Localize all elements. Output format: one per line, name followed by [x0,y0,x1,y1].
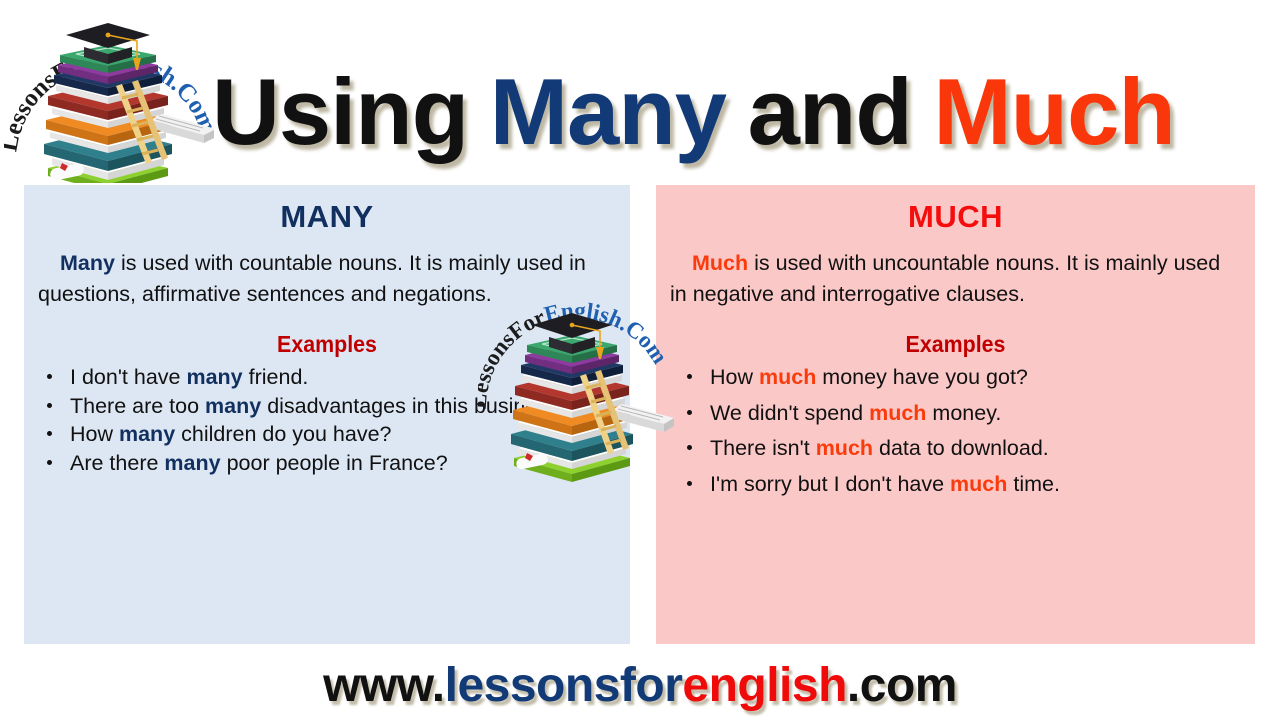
keyword-many: Many [60,251,115,275]
example-keyword: many [205,394,261,418]
card-much: MUCH Much is used with uncountable nouns… [654,183,1257,646]
url-part-lessonsfor: lessonsfor [445,658,683,713]
card-much-examples-list: How much money have you got? We didn't s… [656,363,1255,498]
url-part-com: .com [847,658,957,713]
example-text-post: data to download. [873,436,1049,460]
card-many: MANY Many is used with countable nouns. … [22,183,632,646]
card-much-definition: Much is used with uncountable nouns. It … [656,248,1255,309]
example-text-post: money. [926,401,1001,425]
example-text-pre: I don't have [70,365,186,389]
example-keyword: many [186,365,242,389]
example-text-pre: Are there [70,451,164,475]
example-keyword: many [164,451,220,475]
list-item: I don't have many friend. [30,363,620,392]
lessons-for-english-logo: LessonsForEnglish.Com [4,8,214,188]
example-keyword: much [816,436,873,460]
bullet-icon [687,445,692,450]
example-keyword: much [869,401,926,425]
card-much-definition-rest: is used with uncountable nouns. It is ma… [670,251,1220,306]
ladder-icon [116,80,168,164]
example-text-post: money have you got? [816,365,1028,389]
list-item: We didn't spend much money. [662,399,1245,428]
keyword-much: Much [692,251,748,275]
card-many-examples-list: I don't have many friend. There are too … [24,363,630,477]
card-many-heading: MANY [24,199,630,235]
example-text-pre: I'm sorry but I don't have [710,472,950,496]
url-part-www: www. [323,658,445,713]
list-item: I'm sorry but I don't have much time. [662,470,1245,499]
example-text-post: disadvantages in this business. [261,394,565,418]
bullet-icon [687,481,692,486]
book-stack-icon [44,45,172,188]
card-many-definition-rest: is used with countable nouns. It is main… [38,251,586,306]
bullet-icon [687,374,692,379]
diploma-scroll-icon [49,163,85,182]
open-book-icon [150,114,214,143]
bullet-icon [47,403,52,408]
example-keyword: much [759,365,816,389]
example-text-pre: There isn't [710,436,816,460]
url-part-english: english [682,658,847,713]
card-much-examples-label: Examples [677,331,1234,358]
list-item: There isn't much data to download. [662,434,1245,463]
list-item: How much money have you got? [662,363,1245,392]
bullet-icon [687,410,692,415]
card-many-definition: Many is used with countable nouns. It is… [24,248,630,309]
example-keyword: many [119,422,175,446]
list-item: How many children do you have? [30,420,620,449]
example-text-pre: How [70,422,119,446]
footer-website-url: www. lessonsfor english .com [0,655,1280,715]
card-much-heading: MUCH [656,199,1255,235]
title-part-much: Much [933,58,1174,166]
list-item: There are too many disadvantages in this… [30,392,620,421]
poster-canvas: LessonsForEnglish.Com [0,0,1280,720]
title-part-many: Many [490,58,726,166]
bullet-icon [47,431,52,436]
title-part-and: and [748,58,912,166]
bullet-icon [47,460,52,465]
example-text-post: poor people in France? [221,451,448,475]
logo-graphic: LessonsForEnglish.Com [4,8,214,188]
example-text-pre: How [710,365,759,389]
example-text-post: time. [1007,472,1060,496]
card-many-examples-label: Examples [45,331,609,358]
svg-text:LessonsForEnglish.Com: LessonsForEnglish.Com [4,46,214,154]
example-text-post: friend. [243,365,309,389]
example-keyword: much [950,472,1007,496]
list-item: Are there many poor people in France? [30,449,620,478]
example-text-post: children do you have? [175,422,391,446]
example-text-pre: There are too [70,394,205,418]
example-text-pre: We didn't spend [710,401,869,425]
title-part-using: Using [212,58,468,166]
graduation-cap-icon [66,23,150,70]
page-title: Using Many and Much [212,58,1175,166]
bullet-icon [47,374,52,379]
